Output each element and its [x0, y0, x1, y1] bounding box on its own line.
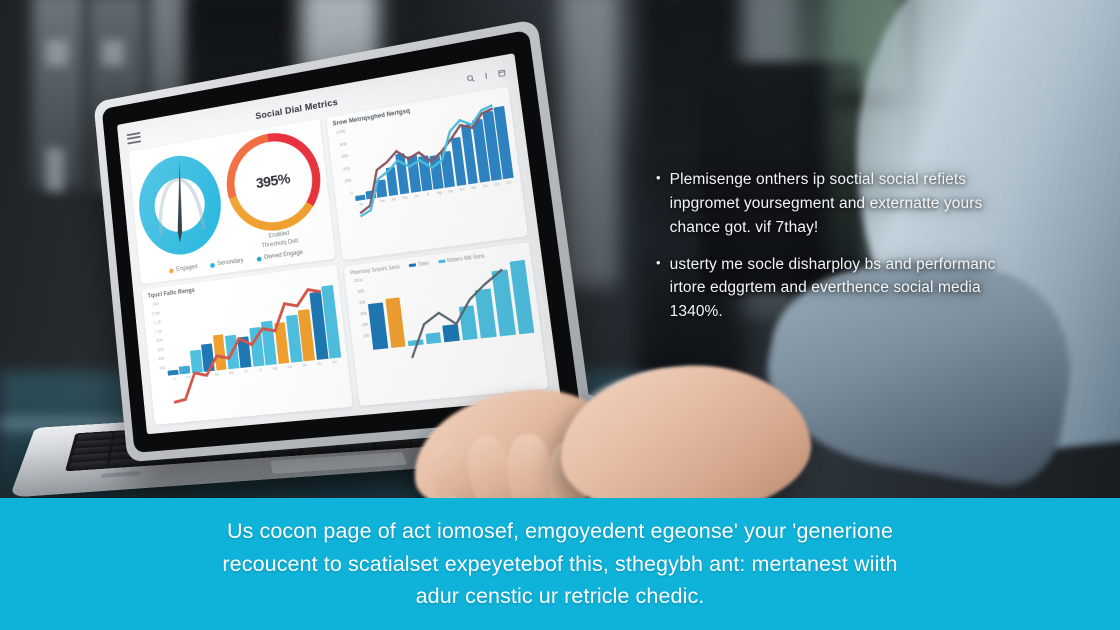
legend-item: Engaged	[169, 264, 198, 274]
calendar-icon[interactable]	[497, 68, 506, 78]
trend-line	[365, 256, 538, 371]
card-sentiment-chart[interactable]: Pberntnp Sntsmt Sens Tseo Rebrrs Md Ssns	[343, 242, 548, 406]
legend-swatch-icon	[438, 259, 446, 263]
card-growth-chart[interactable]: Srow Metriqsghed Nertgsq 1000 800 600 40…	[326, 86, 528, 260]
caption-line: recoucent to scatialset expeyetebof this…	[100, 548, 1020, 581]
bullet-icon: •	[656, 168, 661, 240]
card-traffic-trend[interactable]: Tqucl Fafic Rengs 560 1700 1.2k 1.0k 800	[142, 264, 353, 424]
legend-swatch-icon	[409, 263, 416, 267]
dashboard-right-column: Srow Metriqsghed Nertgsq 1000 800 600 40…	[326, 86, 548, 406]
legend-item: Tseo	[409, 260, 430, 269]
dashboard-left-column: 395% Enabled Thresholq Delt	[128, 119, 353, 425]
gauge-chart	[135, 149, 226, 260]
caption-line: adur censtic ur retricle chedic.	[100, 580, 1020, 613]
legend-label: Engaged	[176, 264, 198, 273]
legend-label: Owned Engage	[264, 250, 304, 261]
bullet-icon: •	[656, 253, 661, 325]
card-circular-metrics[interactable]: 395% Enabled Thresholq Delt	[128, 119, 335, 284]
list-item: • Plemisenge onthers ip soctial social r…	[656, 168, 1006, 240]
search-icon[interactable]	[466, 74, 475, 83]
legend-swatch-icon	[169, 268, 174, 273]
donut-value: 395%	[222, 125, 326, 236]
caption-line: Us cocon page of act iomosef, emgoyedent…	[100, 515, 1020, 548]
trend-line	[161, 279, 346, 408]
laptop-screen[interactable]: Social Dial Metrics	[117, 53, 561, 434]
legend-label: Secondary	[217, 258, 244, 267]
list-item-text: usterty me socle disharploy bs and perfo…	[670, 253, 1006, 325]
legend-label: Tseo	[418, 260, 430, 268]
legend-swatch-icon	[210, 262, 215, 267]
caption-text: Us cocon page of act iomosef, emgoyedent…	[100, 515, 1020, 613]
donut-chart-block: 395% Enabled Thresholq Delt	[222, 125, 328, 255]
legend-swatch-icon	[256, 256, 261, 261]
binder-label	[46, 40, 68, 66]
bullet-list: • Plemisenge onthers ip soctial social r…	[656, 168, 1006, 337]
header-icons	[466, 68, 507, 83]
legend-item: Owned Engage	[256, 250, 303, 262]
list-item: • usterty me socle disharploy bs and per…	[656, 253, 1006, 325]
binder-label	[46, 148, 64, 192]
screenshot-root: Social Dial Metrics	[0, 0, 1120, 630]
legend-item: Secondary	[210, 258, 244, 268]
hamburger-menu-icon[interactable]	[127, 132, 142, 145]
dashboard: Social Dial Metrics	[117, 53, 561, 434]
donut-chart: 395%	[222, 125, 326, 236]
screen-bezel: Social Dial Metrics	[102, 30, 581, 453]
lid-latch	[101, 471, 142, 478]
list-item-text: Plemisenge onthers ip soctial social ref…	[670, 168, 1006, 240]
notification-icon[interactable]	[481, 71, 490, 81]
caption-bar: Us cocon page of act iomosef, emgoyedent…	[0, 498, 1120, 630]
